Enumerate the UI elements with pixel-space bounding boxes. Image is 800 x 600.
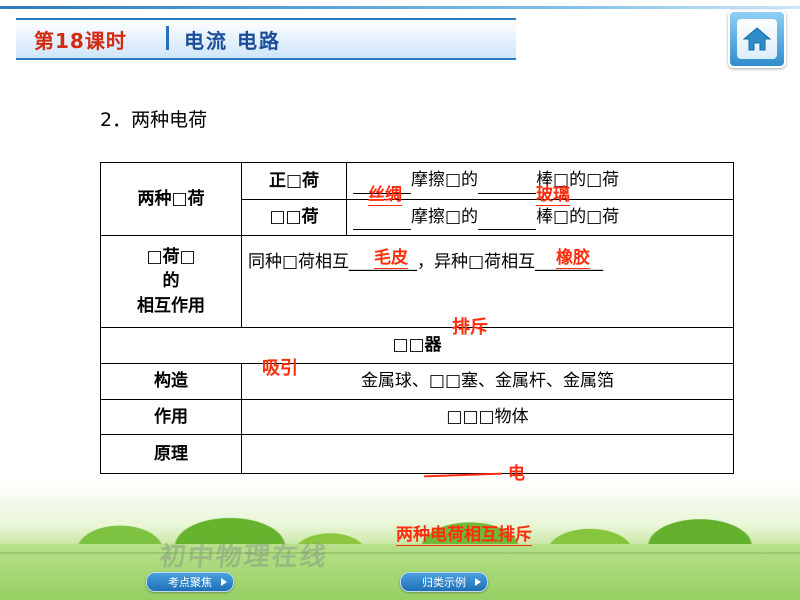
slide-title-bar: 第18课时 电流 电路 [16, 18, 516, 60]
annotation-electric: 电 [508, 459, 525, 484]
nav-button-key-points-label: 考点聚焦 [168, 574, 212, 590]
annotation-silk: 丝绸 [368, 180, 402, 206]
text-rub-b: 摩擦□的 [411, 207, 478, 227]
table-row: □□器 [101, 328, 734, 364]
nav-button-examples-label: 归类示例 [422, 574, 466, 590]
cell-function-desc: □□□物体 [242, 399, 734, 435]
lesson-topic: 电流 电路 [184, 25, 281, 54]
table-row: 构造 金属球、□□塞、金属杆、金属箔 [101, 363, 734, 399]
watermark-text: 初中物理在线 [158, 536, 330, 573]
home-icon [743, 26, 771, 52]
table-row: 原理 [101, 435, 734, 474]
cell-negative-charge-label: □□荷 [242, 199, 347, 236]
nav-button-examples[interactable]: 归类示例 [400, 572, 488, 592]
text-rub-a: 摩擦□的 [411, 170, 478, 190]
home-button-inner [737, 19, 777, 59]
annotation-rubber: 橡胶 [556, 243, 590, 269]
home-button[interactable] [728, 10, 786, 68]
content-table-wrapper: 两种□荷 正□荷 丝绸摩擦□的 棒□的□荷 □□荷 摩擦□的 棒□的□荷 □荷□ [100, 162, 734, 474]
lesson-number: 第18课时 [34, 25, 127, 54]
interaction-label-line3: 相互作用 [107, 294, 235, 319]
chevron-right-icon-2 [475, 578, 481, 586]
blank-underline-4 [478, 205, 536, 231]
table-row: 作用 □□□物体 [101, 399, 734, 435]
title-divider [166, 26, 169, 50]
blank-underline-3 [353, 205, 411, 231]
interaction-label-line2: 的 [107, 269, 235, 294]
table-row: 两种□荷 正□荷 丝绸摩擦□的 棒□的□荷 [101, 163, 734, 200]
cell-structure-desc: 金属球、□□塞、金属杆、金属箔 [242, 363, 734, 399]
interaction-label-line1: □荷□ [107, 245, 235, 270]
cell-two-kinds-label: 两种□荷 [101, 163, 242, 236]
cell-positive-charge-label: 正□荷 [242, 163, 347, 200]
table-row: □荷□ 的 相互作用 同种□荷相互________，异种□荷相互________ [101, 236, 734, 328]
annotation-like-charges-repel: 两种电荷相互排斥 [396, 520, 532, 546]
chevron-right-icon [221, 578, 227, 586]
nav-button-key-points[interactable]: 考点聚焦 [146, 572, 234, 592]
cell-principle-desc [242, 435, 734, 474]
annotation-repel: 排斥 [452, 313, 488, 339]
cell-interaction-label: □荷□ 的 相互作用 [101, 236, 242, 328]
text-rod-b: 棒□的□荷 [536, 207, 619, 227]
slide-canvas: 第18课时 电流 电路 2．两种电荷 两种□荷 正□荷 丝绸摩擦□的 棒□的□荷 [0, 0, 800, 600]
blank-underline-2 [478, 168, 536, 194]
section-heading: 2．两种电荷 [100, 105, 207, 132]
annotation-glass: 玻璃 [536, 180, 570, 206]
annotation-fur: 毛皮 [374, 243, 408, 269]
cell-electroscope-title: □□器 [101, 328, 734, 364]
cell-structure-label: 构造 [101, 363, 242, 399]
cell-function-label: 作用 [101, 399, 242, 435]
annotation-attract: 吸引 [262, 354, 298, 380]
charge-summary-table: 两种□荷 正□荷 丝绸摩擦□的 棒□的□荷 □□荷 摩擦□的 棒□的□荷 □荷□ [100, 162, 734, 474]
grass-horizon-line [0, 552, 800, 554]
cell-principle-label: 原理 [101, 435, 242, 474]
